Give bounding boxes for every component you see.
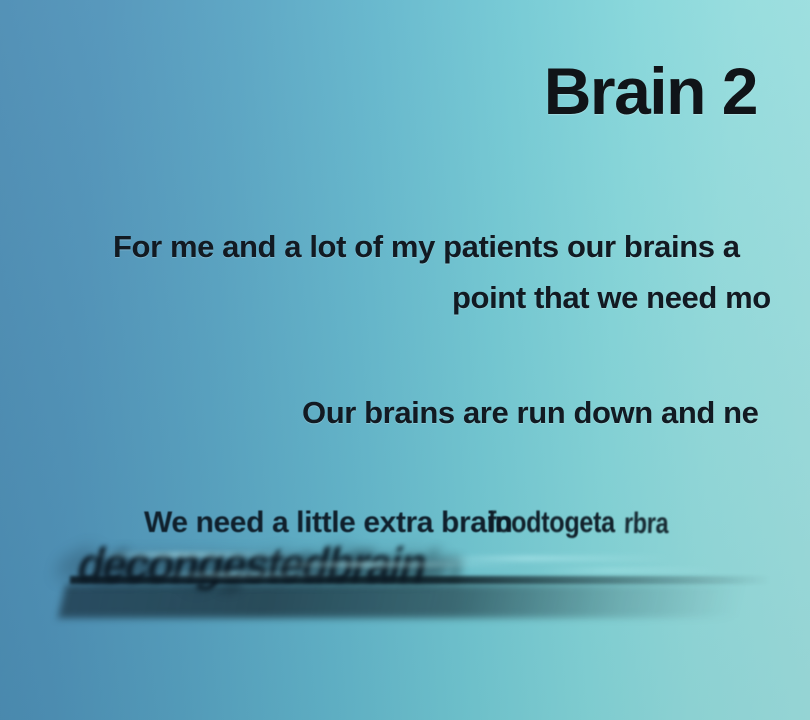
motion-streak-2 [259,562,520,567]
motion-streak-5 [539,568,720,573]
motion-streak-4 [149,572,350,577]
page-title: Brain 2 [0,58,757,124]
video-slide-frame: Brain 2 For me and a lot of my patients … [0,0,810,720]
caption-transition-zone: We need a little extra brain foodtogeta … [0,488,810,628]
caption-line-3: Our brains are run down and ne [302,394,759,432]
motion-streak-1 [89,552,310,557]
motion-streak-3 [429,556,670,561]
caption-body: For me and a lot of my patients our brai… [0,206,810,496]
motion-blur-smear: decongestedbrain decongestedbrain decong… [0,532,810,628]
caption-line-1: For me and a lot of my patients our brai… [113,228,740,266]
caption-line-2: point that we need mo [452,279,771,317]
